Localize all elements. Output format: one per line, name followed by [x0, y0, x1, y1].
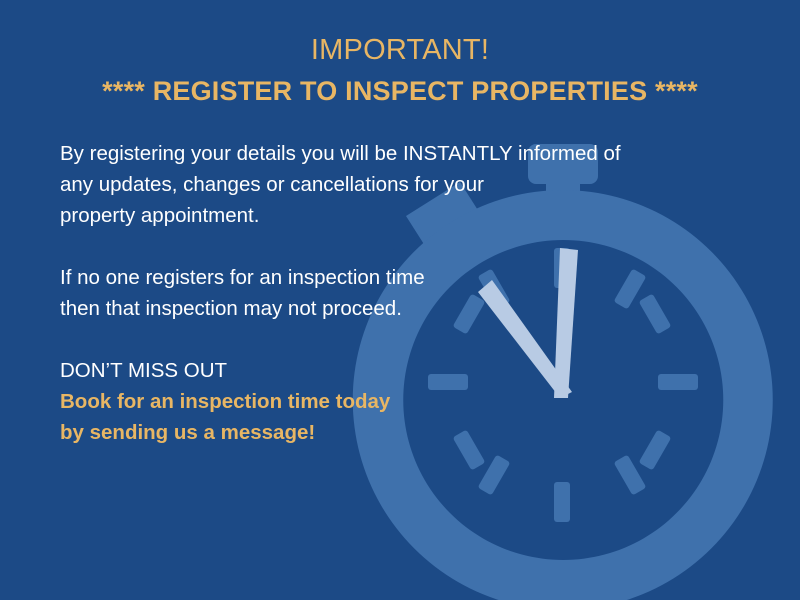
cta-spacer: [60, 324, 800, 355]
title-line-1: IMPORTANT!: [0, 30, 800, 70]
paragraph-1-line-2: any updates, changes or cancellations fo…: [60, 169, 800, 200]
body-block: By registering your details you will be …: [0, 138, 800, 448]
slide-canvas: IMPORTANT! **** REGISTER TO INSPECT PROP…: [0, 0, 800, 600]
cta-line-1: DON’T MISS OUT: [60, 355, 800, 386]
paragraph-1-line-1: By registering your details you will be …: [60, 138, 800, 169]
title-line-2: **** REGISTER TO INSPECT PROPERTIES ****: [0, 70, 800, 112]
paragraph-1-line-3: property appointment.: [60, 200, 800, 231]
paragraph-spacer: [60, 231, 800, 262]
cta-line-2: Book for an inspection time today: [60, 386, 800, 417]
title-block: IMPORTANT! **** REGISTER TO INSPECT PROP…: [0, 0, 800, 112]
paragraph-2-line-1: If no one registers for an inspection ti…: [60, 262, 800, 293]
cta-line-3: by sending us a message!: [60, 417, 800, 448]
slide-content: IMPORTANT! **** REGISTER TO INSPECT PROP…: [0, 0, 800, 448]
paragraph-2-line-2: then that inspection may not proceed.: [60, 293, 800, 324]
